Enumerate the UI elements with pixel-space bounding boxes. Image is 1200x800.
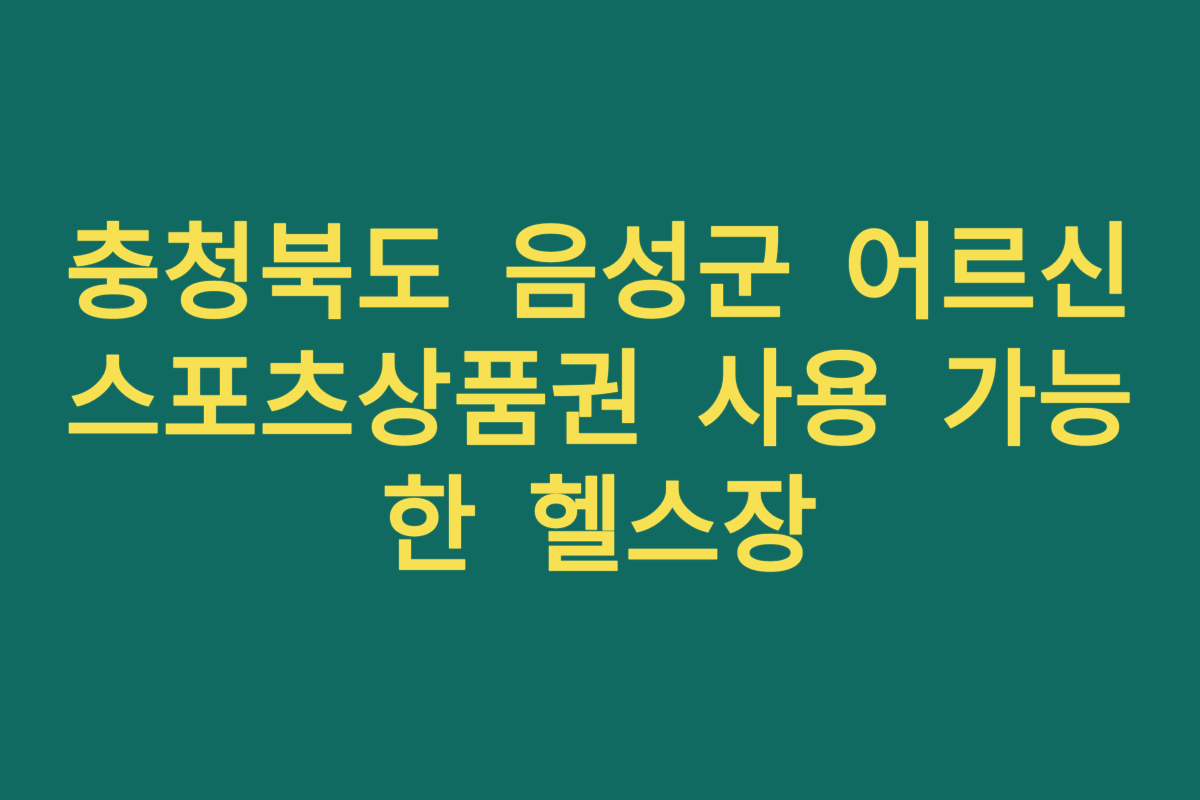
headline-line-3: 한 헬스장 bbox=[50, 463, 1150, 590]
headline-line-2: 스포츠상품권 사용 가능 bbox=[50, 337, 1150, 464]
headline-line-1: 충청북도 음성군 어르신 bbox=[50, 210, 1150, 337]
banner-canvas: 충청북도 음성군 어르신 스포츠상품권 사용 가능 한 헬스장 bbox=[0, 0, 1200, 800]
page-title: 충청북도 음성군 어르신 스포츠상품권 사용 가능 한 헬스장 bbox=[50, 210, 1150, 591]
